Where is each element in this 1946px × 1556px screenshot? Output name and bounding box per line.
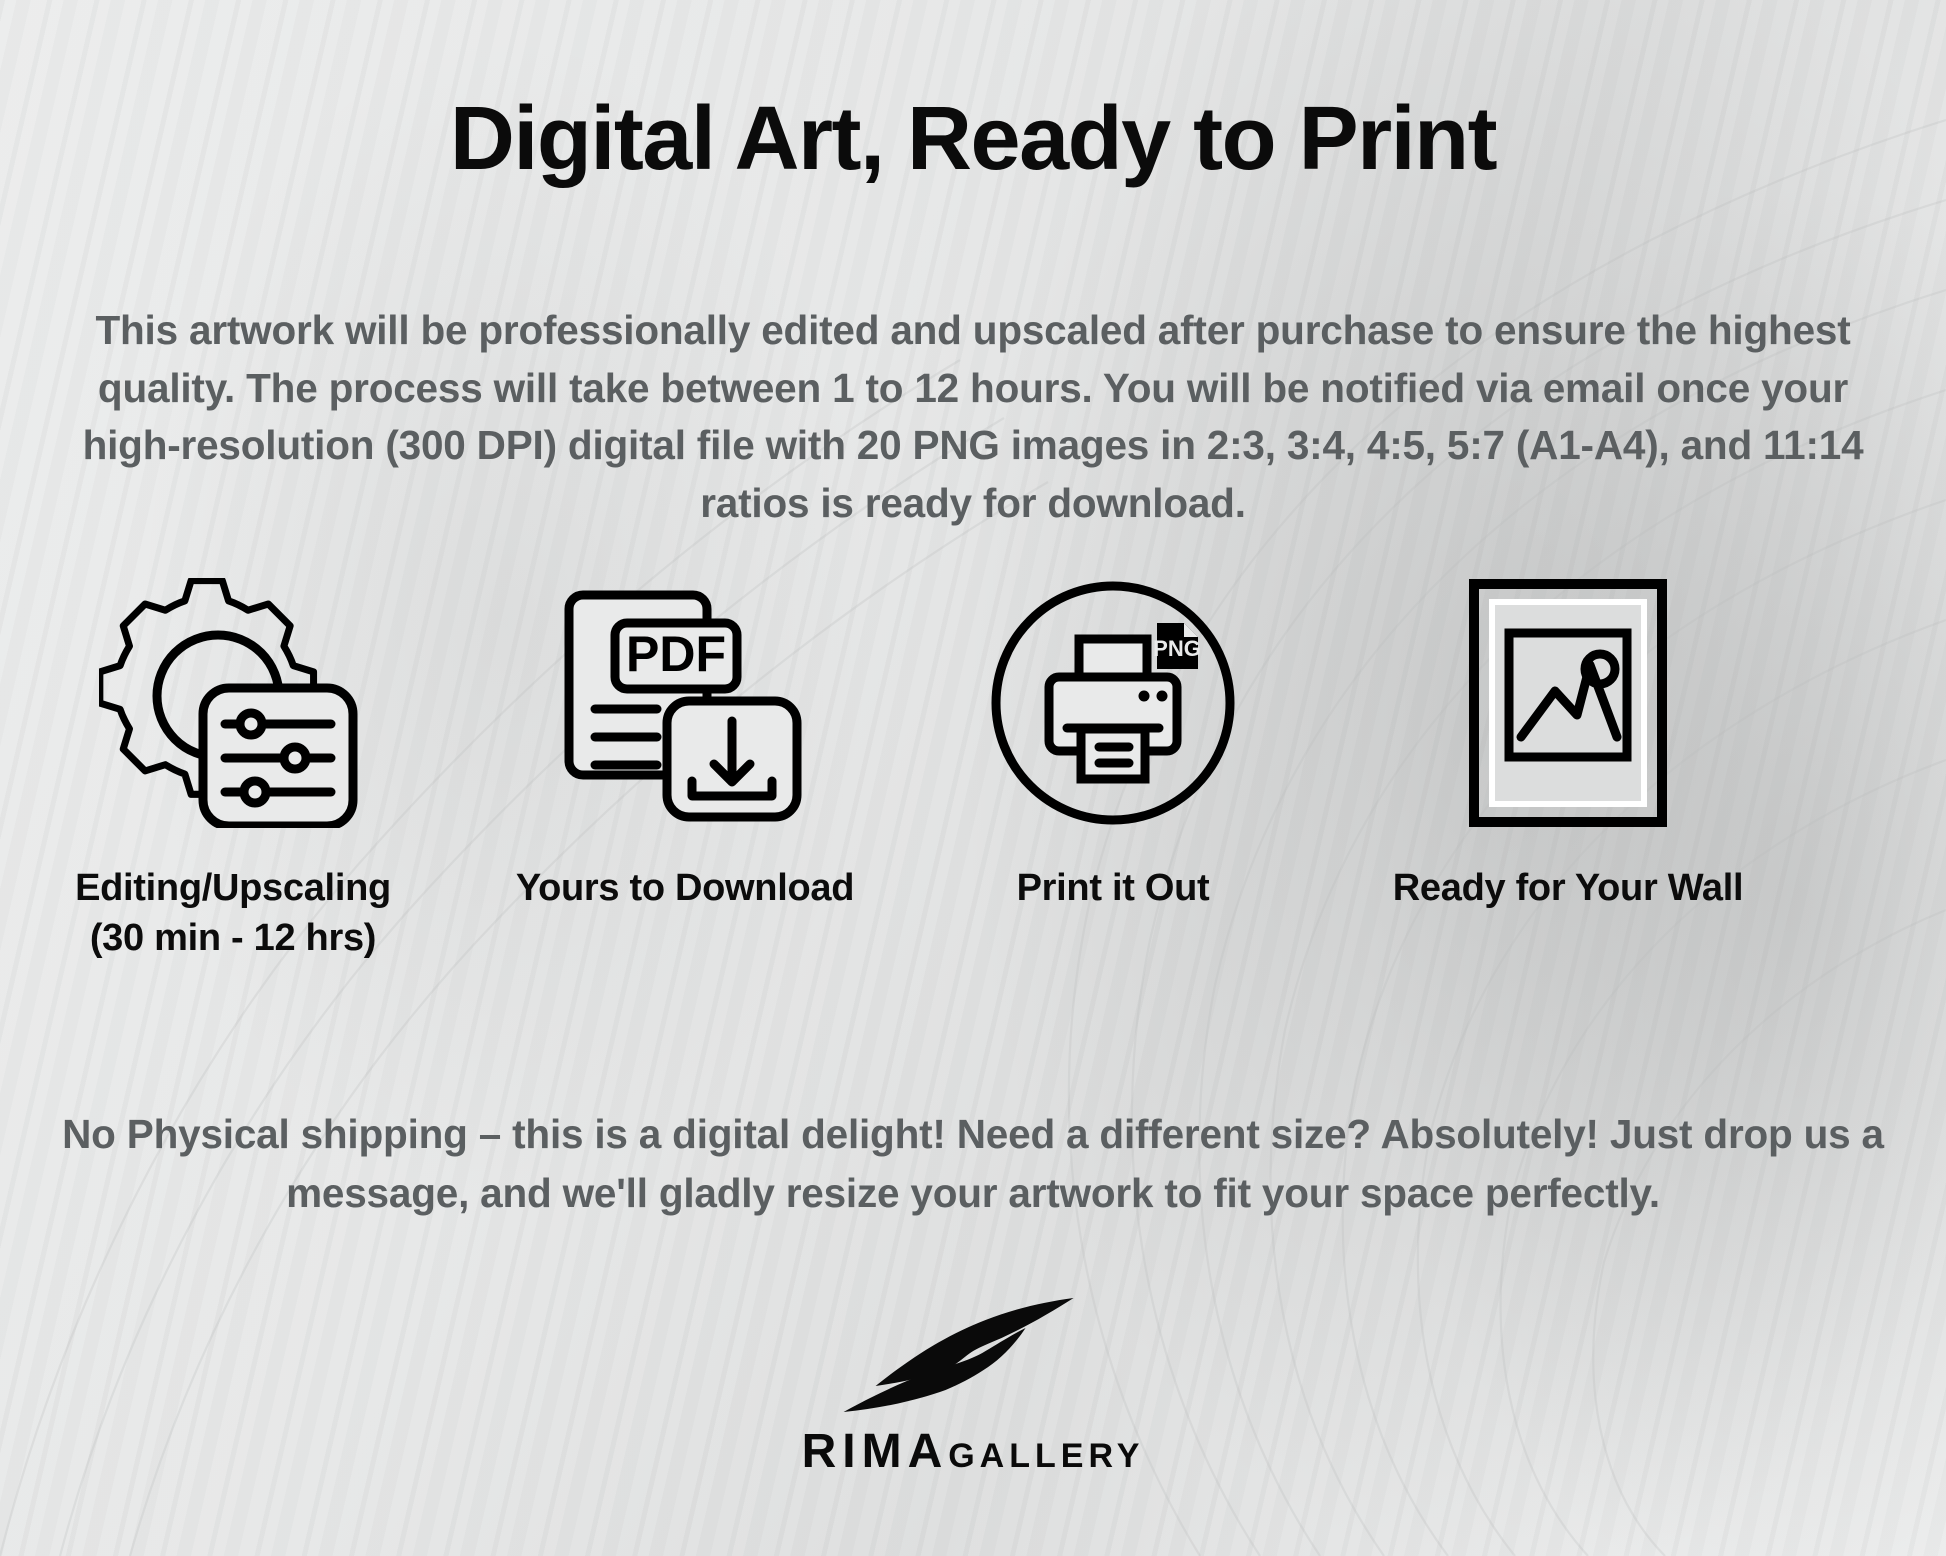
page-title: Digital Art, Ready to Print [0, 92, 1946, 187]
feature-label: Yours to Download [516, 863, 854, 913]
feature-print-it-out: PNG Print it Out [918, 560, 1308, 913]
shipping-note: No Physical shipping – this is a digital… [58, 1105, 1888, 1222]
printer-circle-icon: PNG [987, 577, 1239, 829]
feature-label: Ready for Your Wall [1393, 863, 1743, 913]
logo-name-secondary: GALLERY [948, 1437, 1144, 1476]
gear-sliders-icon [99, 578, 367, 828]
poster-page: Digital Art, Ready to Print This artwork… [0, 0, 1946, 1556]
rima-swoosh-logo-mark [838, 1290, 1108, 1418]
png-badge-text: PNG [1153, 636, 1201, 661]
feature-ready-for-your-wall: Ready for Your Wall [1318, 560, 1818, 913]
feature-icon-container: PDF [559, 560, 811, 845]
feature-icon-container [99, 560, 367, 845]
logo-wordmark: RIMA GALLERY [802, 1424, 1145, 1479]
pdf-download-icon: PDF [559, 581, 811, 825]
feature-icon-container [1469, 560, 1667, 845]
logo-name-primary: RIMA [802, 1424, 949, 1479]
feature-icon-container: PNG [987, 560, 1239, 845]
intro-paragraph: This artwork will be professionally edit… [53, 302, 1893, 532]
feature-row: Editing/Upscaling (30 min - 12 hrs) PDF [0, 560, 1946, 963]
feature-label: Print it Out [1017, 863, 1210, 913]
feature-label: Editing/Upscaling (30 min - 12 hrs) [75, 863, 391, 963]
feature-yours-to-download: PDF Yours to Download [470, 560, 900, 913]
feature-editing-upscaling: Editing/Upscaling (30 min - 12 hrs) [18, 560, 448, 963]
brand-logo: RIMA GALLERY [802, 1290, 1145, 1479]
framed-picture-icon [1469, 579, 1667, 827]
pdf-badge-text: PDF [626, 626, 726, 682]
